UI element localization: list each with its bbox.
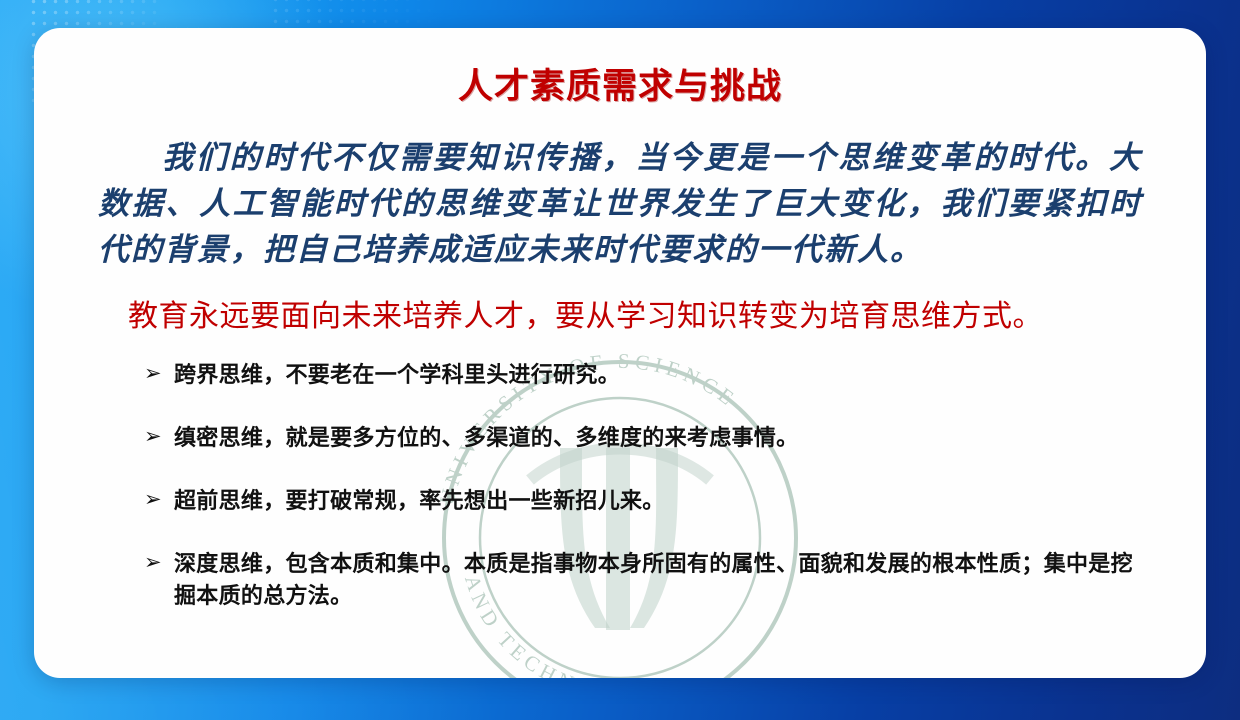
- slide-root: UNIVERSITY OF SCIENCE AND TECHNOLOGY 人才素…: [0, 0, 1240, 720]
- list-item-label: 缜密思维，就是要多方位的、多渠道的、多维度的来考虑事情。: [174, 422, 1140, 454]
- page-title: 人才素质需求与挑战: [60, 28, 1180, 109]
- list-item-label: 跨界思维，不要老在一个学科里头进行研究。: [174, 359, 1140, 391]
- list-item: ➢ 深度思维，包含本质和集中。本质是指事物本身所固有的属性、面貌和发展的根本性质…: [144, 548, 1140, 612]
- highlight-statement: 教育永远要面向未来培养人才，要从学习知识转变为培育思维方式。: [60, 297, 1180, 337]
- content-card: UNIVERSITY OF SCIENCE AND TECHNOLOGY 人才素…: [34, 28, 1206, 678]
- card-content: 人才素质需求与挑战 我们的时代不仅需要知识传播，当今更是一个思维变革的时代。大数…: [34, 28, 1206, 612]
- arrow-bullet-icon: ➢: [144, 421, 162, 453]
- list-item-label: 深度思维，包含本质和集中。本质是指事物本身所固有的属性、面貌和发展的根本性质；集…: [174, 548, 1140, 612]
- arrow-bullet-icon: ➢: [144, 547, 162, 579]
- list-item: ➢ 超前思维，要打破常规，率先想出一些新招儿来。: [144, 485, 1140, 517]
- arrow-bullet-icon: ➢: [144, 358, 162, 390]
- list-item: ➢ 缜密思维，就是要多方位的、多渠道的、多维度的来考虑事情。: [144, 422, 1140, 454]
- list-item: ➢ 跨界思维，不要老在一个学科里头进行研究。: [144, 359, 1140, 391]
- list-item-label: 超前思维，要打破常规，率先想出一些新招儿来。: [174, 485, 1140, 517]
- bullet-list: ➢ 跨界思维，不要老在一个学科里头进行研究。 ➢ 缜密思维，就是要多方位的、多渠…: [60, 359, 1180, 612]
- arrow-bullet-icon: ➢: [144, 484, 162, 516]
- quote-paragraph: 我们的时代不仅需要知识传播，当今更是一个思维变革的时代。大数据、人工智能时代的思…: [98, 135, 1142, 273]
